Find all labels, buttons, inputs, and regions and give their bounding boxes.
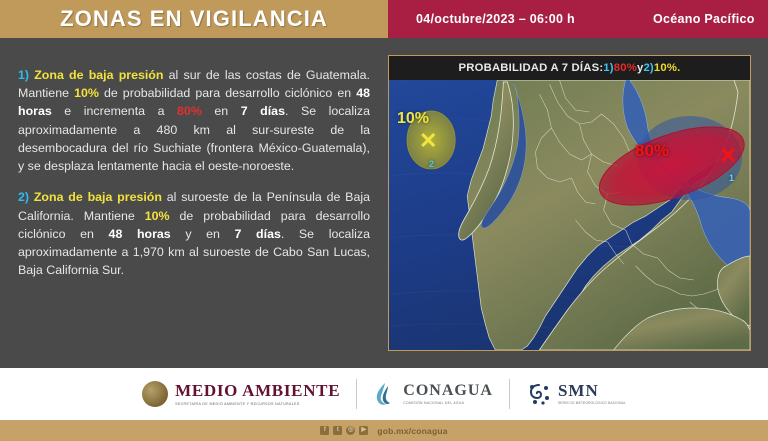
map-caption-zone-2-number: 2) [643, 62, 653, 74]
map-caption-zone-1-number: 1) [603, 62, 613, 74]
zone-1-heading: Zona de baja presión [34, 68, 163, 82]
zone-2-prob-48h: 10% [145, 209, 170, 223]
conagua-water-icon [373, 381, 397, 407]
map-caption-zone-2-value: 10%. [654, 62, 681, 74]
zone-2-area [407, 111, 455, 169]
instagram-icon[interactable]: ◎ [346, 426, 355, 435]
medio-ambiente-name: MEDIO AMBIENTE [175, 382, 340, 399]
logo-divider-1 [356, 379, 357, 409]
header-meta-panel: 04/octubre/2023 – 06:00 h Océano Pacífic… [388, 0, 768, 38]
zone-1-prob-7d: 80% [177, 104, 202, 118]
header-bar: ZONAS EN VIGILANCIA 04/octubre/2023 – 06… [0, 0, 768, 38]
map-svg [389, 80, 750, 350]
social-footer-bar: f t ◎ ▶ gob.mx/conagua [0, 420, 768, 441]
conagua-name: CONAGUA [403, 383, 493, 399]
map-caption-zone-1-value: 80% [614, 62, 637, 74]
satellite-map[interactable]: 10% ✕ 2 80% ✕ 1 [389, 80, 750, 350]
zone-1-text-3: e incrementa a [52, 104, 177, 118]
agency-logo-bar: MEDIO AMBIENTE Secretaría de Medio Ambie… [0, 368, 768, 420]
smn-spiral-icon [526, 381, 552, 407]
logo-conagua: CONAGUA Comisión Nacional del Agua [373, 381, 493, 407]
zone-1-number: 1) [18, 68, 29, 82]
page-title: ZONAS EN VIGILANCIA [60, 6, 328, 32]
smn-name: SMN [558, 382, 626, 399]
conagua-subtitle: Comisión Nacional del Agua [403, 401, 493, 405]
zone-2-heading: Zona de baja presión [34, 190, 162, 204]
map-caption-prefix: PROBABILIDAD A 7 DÍAS: [459, 62, 604, 74]
zone-1-window-7d: 7 días [241, 104, 285, 118]
mexican-eagle-seal-icon [142, 381, 168, 407]
website-url[interactable]: gob.mx/conagua [377, 426, 447, 436]
forecast-map-panel[interactable]: PROBABILIDAD A 7 DÍAS: 1) 80% y 2) 10%. [388, 55, 751, 351]
logo-smn: SMN Servicio Meteorológico Nacional [526, 381, 626, 407]
youtube-icon[interactable]: ▶ [359, 426, 368, 435]
zone-2-text-3: y en [171, 227, 235, 241]
zone-2-window-48h: 48 horas [109, 227, 171, 241]
bulletin-page: ZONAS EN VIGILANCIA 04/octubre/2023 – 06… [0, 0, 768, 441]
logo-divider-2 [509, 379, 510, 409]
zone-1-paragraph: 1) Zona de baja presión al sur de las co… [18, 66, 370, 175]
zone-1-text-4: en [202, 104, 241, 118]
report-text-column: 1) Zona de baja presión al sur de las co… [18, 66, 370, 293]
medio-ambiente-subtitle: Secretaría de Medio Ambiente y Recursos … [175, 402, 340, 406]
zone-1-prob-48h: 10% [74, 86, 99, 100]
logo-medio-ambiente: MEDIO AMBIENTE Secretaría de Medio Ambie… [142, 381, 340, 407]
twitter-icon[interactable]: t [333, 426, 342, 435]
map-caption: PROBABILIDAD A 7 DÍAS: 1) 80% y 2) 10%. [389, 56, 750, 80]
bulletin-timestamp: 04/octubre/2023 – 06:00 h [416, 12, 575, 26]
zone-2-number: 2) [18, 190, 29, 204]
zone-2-paragraph: 2) Zona de baja presión al suroeste de l… [18, 188, 370, 279]
zone-1-text-2: de probabilidad para desarrollo ciclónic… [99, 86, 356, 100]
body-area: 1) Zona de baja presión al sur de las co… [0, 38, 768, 368]
zone-2-window-7d: 7 días [235, 227, 281, 241]
smn-subtitle: Servicio Meteorológico Nacional [558, 401, 626, 405]
header-title-panel: ZONAS EN VIGILANCIA [0, 0, 388, 38]
facebook-icon[interactable]: f [320, 426, 329, 435]
ocean-basin-label: Océano Pacífico [653, 12, 755, 26]
